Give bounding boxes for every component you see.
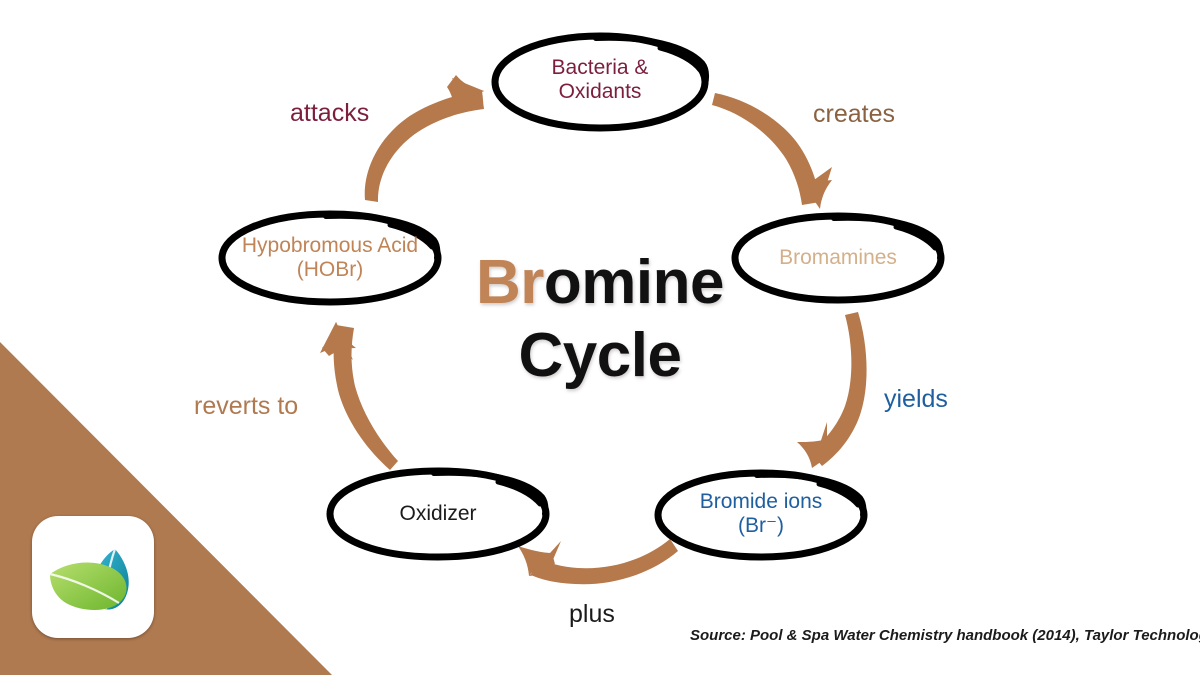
- title-accent: Br: [476, 248, 544, 317]
- node-ellipse-bacteria-oxidants[interactable]: [495, 36, 706, 128]
- diagram-canvas: Bromine Cycle Bacteria & Oxidants Bromam…: [0, 0, 1200, 675]
- edge-label-yields: yields: [884, 385, 948, 414]
- edge-label-attacks: attacks: [290, 99, 369, 128]
- title-line-2: Cycle: [400, 319, 800, 392]
- arrow-attacks: [365, 75, 484, 202]
- node-ellipse-oxidizer[interactable]: [330, 471, 546, 557]
- page-title: Bromine Cycle: [400, 246, 800, 392]
- title-line-1: Bromine: [400, 246, 800, 319]
- edge-label-creates: creates: [813, 100, 895, 129]
- edge-label-reverts-to: reverts to: [194, 392, 298, 421]
- source-note: Source: Pool & Spa Water Chemistry handb…: [690, 627, 1200, 644]
- brand-logo[interactable]: [32, 516, 154, 638]
- arrow-yields: [797, 312, 867, 468]
- arrow-reverts-to: [320, 322, 398, 470]
- node-ellipse-bromide-ions[interactable]: [658, 473, 864, 557]
- leaf-logo-icon: [32, 516, 154, 638]
- edge-label-plus: plus: [569, 600, 615, 629]
- title-rest: omine: [544, 248, 724, 317]
- arrow-plus: [518, 539, 678, 584]
